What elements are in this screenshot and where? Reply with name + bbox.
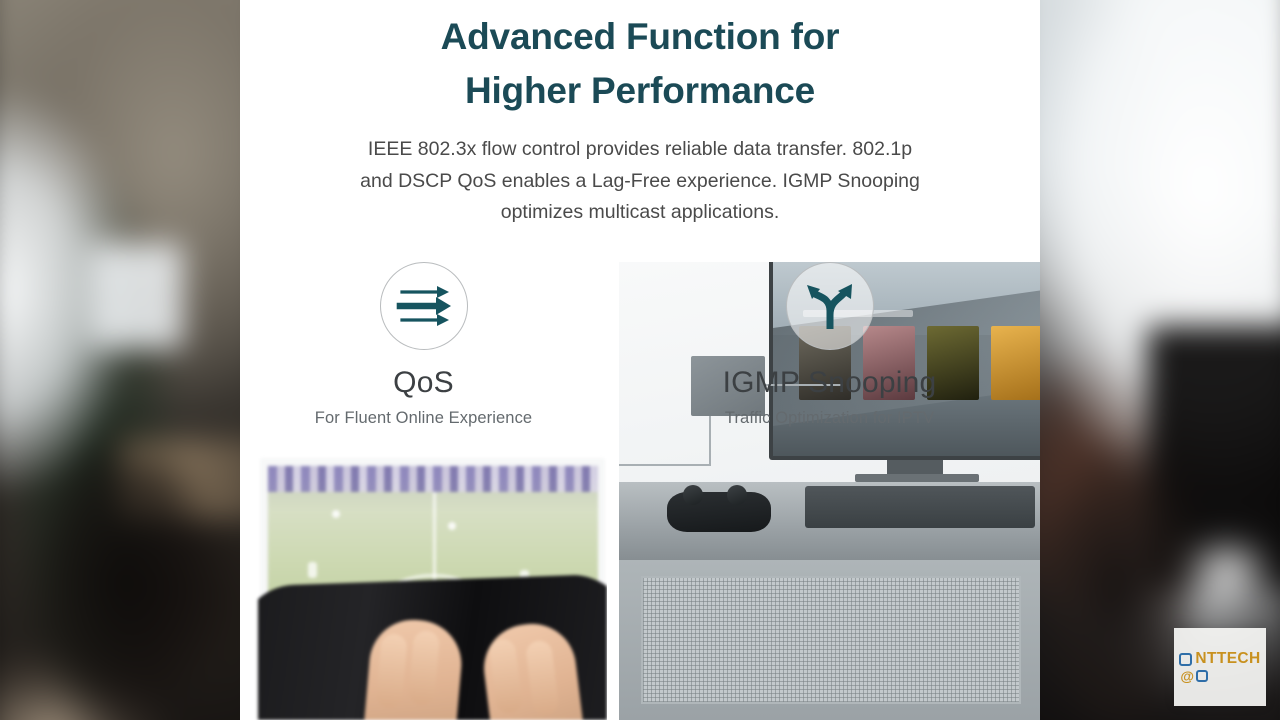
igmp-tv-foot <box>855 474 979 482</box>
body-copy-line3: optimizes multicast applications. <box>264 197 1016 229</box>
qos-icon-circle <box>380 262 468 350</box>
logo-square-icon <box>1179 653 1192 666</box>
logo-row-bottom: @ <box>1179 669 1260 683</box>
igmp-gamepad-stick <box>683 485 703 505</box>
igmp-icon-circle <box>786 262 874 350</box>
qos-finger <box>408 630 440 706</box>
backdrop-chair <box>17 394 234 720</box>
qos-scene-photo <box>258 452 607 720</box>
logo-square-icon <box>1196 670 1208 682</box>
feature-divider <box>607 262 619 720</box>
igmp-cable <box>619 464 711 466</box>
branching-arrow-icon <box>804 281 856 331</box>
page-title: Advanced Function for Higher Performance <box>240 10 1040 117</box>
igmp-soundbar <box>805 486 1035 528</box>
backdrop-glow <box>1159 520 1280 623</box>
feature-igmp-title: IGMP Snooping <box>619 366 1040 400</box>
slide-stage: Advanced Function for Higher Performance… <box>0 0 1280 720</box>
logo-row-top: NTTECH <box>1179 651 1260 667</box>
nttech-logo: NTTECH @ <box>1179 651 1260 683</box>
feature-qos-subtitle: For Fluent Online Experience <box>240 409 607 428</box>
qos-crowd <box>268 466 598 492</box>
logo-brand-text: NTTECH <box>1195 651 1260 667</box>
feature-igmp-snooping: IGMP Snooping Traffic Optimization for I… <box>619 262 1040 720</box>
backdrop-left <box>0 0 270 720</box>
three-arrows-icon <box>396 283 452 329</box>
igmp-gamepad <box>667 492 771 532</box>
feature-igmp-subtitle: Traffic Optimization for IPTV <box>619 409 1040 428</box>
qos-finger <box>488 638 523 715</box>
logo-at-icon: @ <box>1180 669 1193 683</box>
page-title-line2: Higher Performance <box>280 64 1000 118</box>
body-copy: IEEE 802.3x flow control provides reliab… <box>240 134 1040 229</box>
igmp-gamepad-stick <box>727 485 747 505</box>
qos-light-spot <box>448 522 456 530</box>
page-title-line1: Advanced Function for <box>441 16 840 57</box>
qos-player <box>308 562 317 578</box>
content-panel: Advanced Function for Higher Performance… <box>240 0 1040 720</box>
qos-finger <box>376 633 408 709</box>
body-copy-line2: and DSCP QoS enables a Lag-Free experien… <box>264 166 1016 198</box>
feature-qos-title: QoS <box>240 366 607 400</box>
backdrop-monitor <box>92 244 183 349</box>
qos-finger <box>525 639 560 716</box>
watermark-logo: NTTECH @ <box>1174 628 1266 706</box>
igmp-console-mesh <box>641 576 1021 704</box>
backdrop-right <box>1010 0 1280 720</box>
feature-qos: QoS For Fluent Online Experience <box>240 262 607 720</box>
body-copy-line1: IEEE 802.3x flow control provides reliab… <box>264 134 1016 166</box>
qos-light-spot <box>332 510 340 518</box>
feature-columns: QoS For Fluent Online Experience <box>240 262 1040 720</box>
